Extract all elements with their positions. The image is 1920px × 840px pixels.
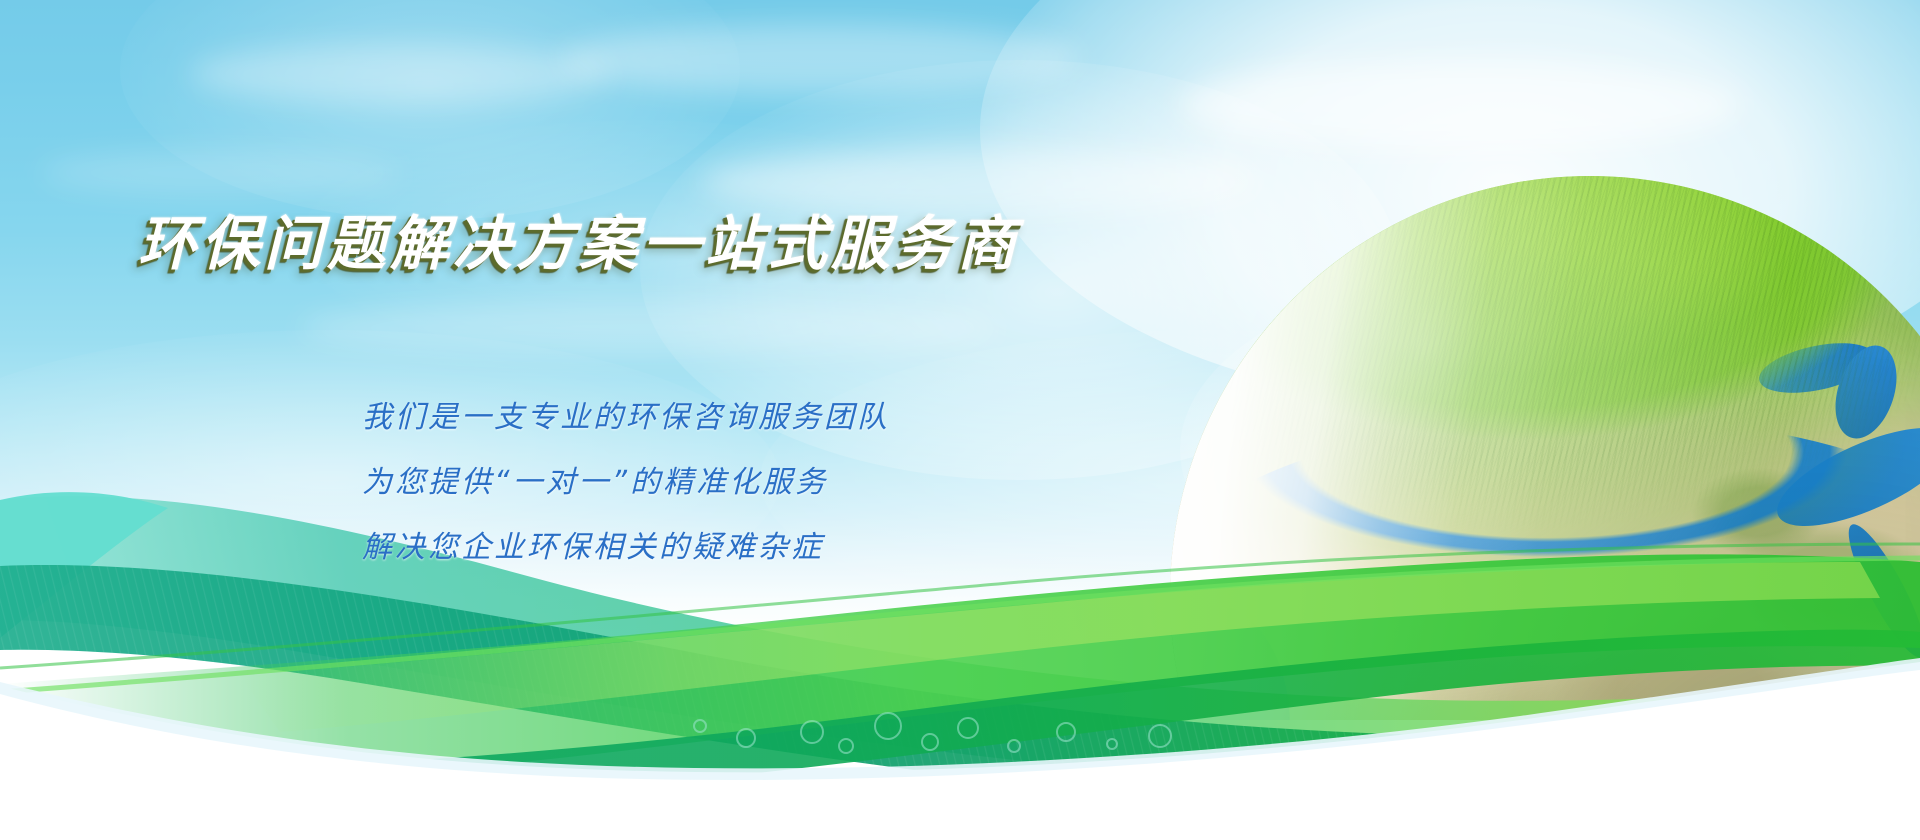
subcopy-block: 我们是一支专业的环保咨询服务团队 为您提供“一对一”的精准化服务 解决您企业环保… [362, 392, 890, 587]
page-title: 环保问题解决方案一站式服务商 [138, 196, 1020, 281]
subcopy-line-1: 我们是一支专业的环保咨询服务团队 [362, 392, 890, 436]
sky-background [0, 0, 1920, 840]
subcopy-line-2: 为您提供“一对一”的精准化服务 [362, 457, 890, 501]
eco-banner: 环保问题解决方案一站式服务商 我们是一支专业的环保咨询服务团队 为您提供“一对一… [0, 0, 1920, 840]
bottom-white-plate [0, 720, 1920, 840]
subcopy-line-3: 解决您企业环保相关的疑难杂症 [362, 522, 890, 566]
